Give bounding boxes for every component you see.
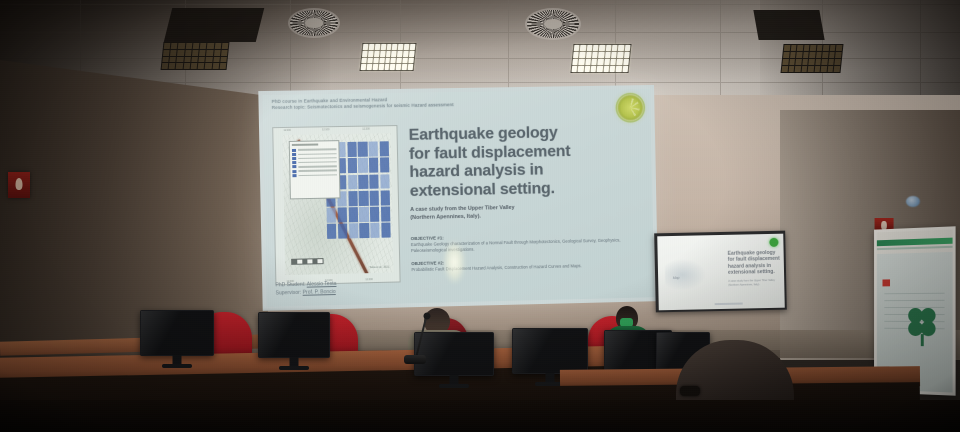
display-map-label: Map <box>673 276 680 280</box>
slide-title: Earthquake geology for fault displacemen… <box>409 123 647 201</box>
display-map-thumb: Map <box>665 257 709 292</box>
poster-header-band <box>877 238 953 247</box>
wall-display-screen: Map Earthquake geology for fault displac… <box>657 233 785 310</box>
university-seal-logo-icon <box>617 94 644 121</box>
smoke-detector-icon <box>906 196 920 207</box>
poster-accent-band <box>877 246 953 250</box>
eyeglasses-icon <box>680 386 700 396</box>
projection-screen: PhD course in Earthquake and Environment… <box>258 85 658 311</box>
desktop-monitor <box>140 310 214 356</box>
map-tick-top-1: 12.000 <box>283 129 291 132</box>
poster-red-mark <box>882 279 890 286</box>
ceiling-light-fixture <box>570 44 631 73</box>
wall-mounted-display: Map Earthquake geology for fault displac… <box>654 231 787 313</box>
map-scale-bar <box>291 258 324 265</box>
map-tick-top-2: 12.100 <box>322 128 329 131</box>
ceiling-light-fixture <box>360 43 417 71</box>
slide-header: PhD course in Earthquake and Environment… <box>272 94 592 112</box>
display-footer-bar <box>715 303 743 305</box>
phd-student-label: PhD Student: <box>275 281 305 288</box>
phd-student-name: Alessio Testa <box>307 280 337 287</box>
microphone-base <box>404 355 426 364</box>
map-legend <box>289 140 341 199</box>
slide-credits: PhD Student: Alessio Testa Supervisor: P… <box>275 279 336 298</box>
four-leaf-clover-icon <box>908 308 937 338</box>
lecture-room-screenshot: PhD course in Earthquake and Environment… <box>0 0 960 432</box>
display-subtitle-line-2: (Northern Apennines, Italy). <box>728 283 775 288</box>
map-tick-top-3: 12.200 <box>362 128 369 131</box>
display-title-line-4: extensional setting. <box>728 269 780 277</box>
floor-shadow <box>0 400 960 432</box>
air-diffuser-vent <box>527 10 579 38</box>
fire-extinguisher-sign <box>8 172 30 198</box>
supervisor-label: Supervisor: <box>276 290 302 297</box>
supervisor-line: Supervisor: Prof. P. Boncio <box>276 288 337 298</box>
map-credit: Testa et al., 2021 <box>369 266 389 269</box>
desktop-monitor <box>414 332 494 376</box>
projector-glare <box>443 240 466 285</box>
map-tick-bottom-3: 12.200 <box>365 278 372 281</box>
hazard-map-figure: Testa et al., 2021 12.000 12.100 12.200 … <box>272 125 400 285</box>
display-logo-icon <box>769 237 778 246</box>
slide-subtitle: A case study from the Upper Tiber Valley… <box>410 201 643 222</box>
supervisor-name: Prof. P. Boncio <box>303 289 336 296</box>
map-canvas: Testa et al., 2021 <box>283 133 394 275</box>
display-title: Earthquake geology for fault displacemen… <box>728 250 780 277</box>
presentation-slide: PhD course in Earthquake and Environment… <box>262 89 654 307</box>
desktop-monitor <box>258 312 330 358</box>
desktop-monitor <box>512 328 588 374</box>
display-subtitle: A case study from the Upper Tiber Valley… <box>728 279 775 287</box>
slide-title-line-4: extensional setting. <box>410 178 647 201</box>
